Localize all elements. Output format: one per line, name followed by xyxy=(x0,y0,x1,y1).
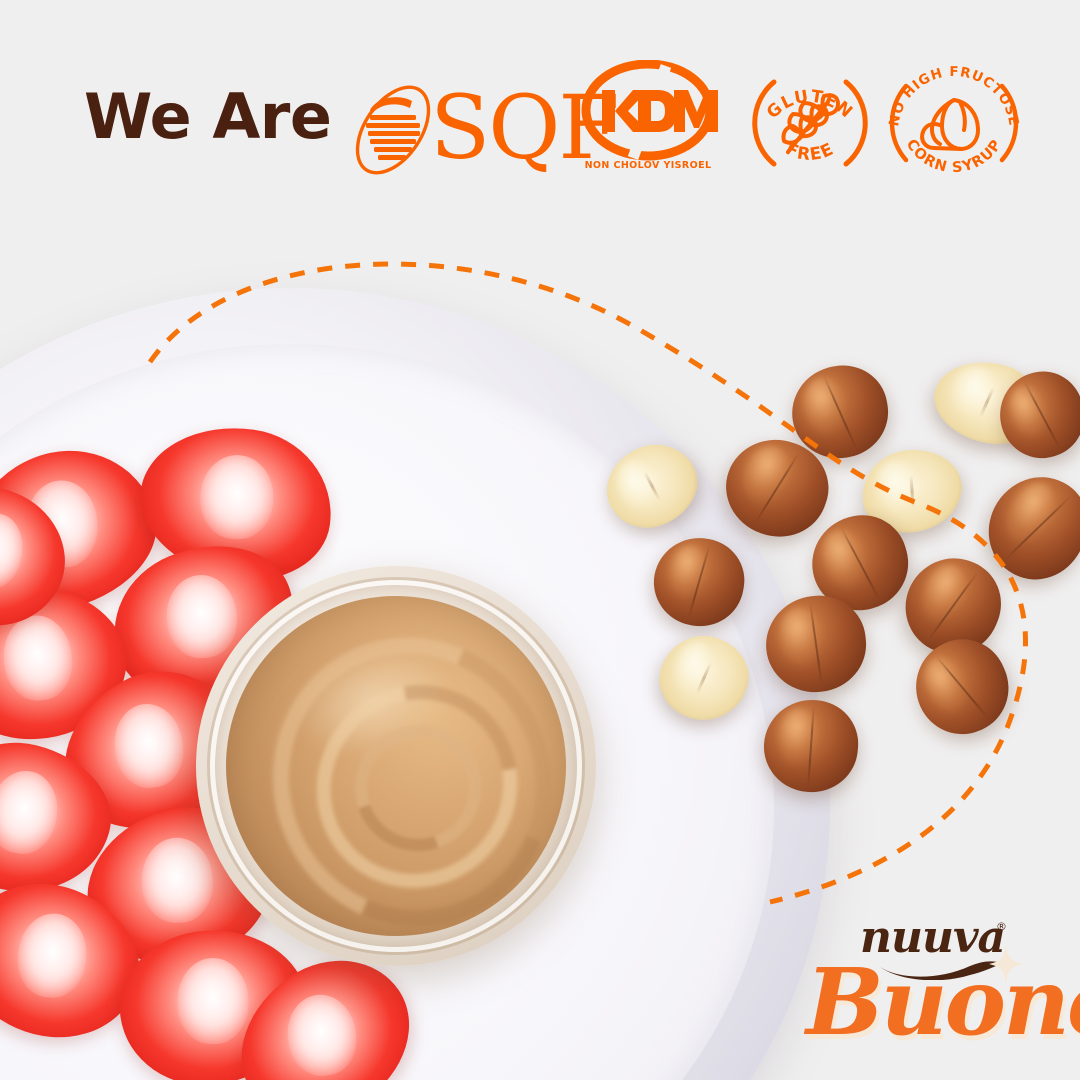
sqf-globe-icon xyxy=(344,74,444,186)
hazelnut-spread xyxy=(226,596,566,936)
spread-swirl xyxy=(277,646,558,928)
gluten-free-icon: GLUTEN FREE xyxy=(750,58,870,188)
page-title: We Are xyxy=(84,86,331,148)
svg-text:FREE: FREE xyxy=(782,139,837,165)
svg-text:NO HIGH FRUCTOSE: NO HIGH FRUCTOSE xyxy=(886,64,1022,128)
sparkle-icon xyxy=(988,944,1024,984)
hfcs-bottom-text: CORN SYRUP xyxy=(903,137,1006,177)
hfcs-top-text: NO HIGH FRUCTOSE xyxy=(886,64,1022,128)
certification-badge-gluten-free[interactable]: GLUTEN FREE xyxy=(750,58,870,188)
hazelnut xyxy=(901,625,1023,748)
kdm-oval-icon xyxy=(578,60,718,164)
glass-jar-of-spread xyxy=(196,566,596,966)
registered-trademark-icon: ® xyxy=(996,920,1007,933)
svg-text:CORN SYRUP: CORN SYRUP xyxy=(903,137,1006,177)
kdm-subtitle: NON CHOLOV YISROEL xyxy=(578,160,718,171)
brand-logo[interactable]: nuuva ® Buono xyxy=(800,916,1060,1044)
gluten-free-bottom-text: FREE xyxy=(782,139,837,165)
social-post-canvas: We Are SQF xyxy=(0,0,1080,1080)
certification-badge-no-hfcs[interactable]: NO HIGH FRUCTOSE CORN SYRUP xyxy=(884,56,1024,190)
brand-name-bottom: Buono xyxy=(806,956,1080,1048)
certification-badge-kdm[interactable]: NON CHOLOV YISROEL xyxy=(578,60,718,190)
spread-swirl xyxy=(229,596,566,936)
certification-badge-sqf[interactable]: SQF xyxy=(344,74,560,186)
spread-swirl xyxy=(334,704,502,872)
spread-highlight xyxy=(282,629,462,774)
no-high-fructose-corn-syrup-icon: NO HIGH FRUCTOSE CORN SYRUP xyxy=(884,56,1024,190)
